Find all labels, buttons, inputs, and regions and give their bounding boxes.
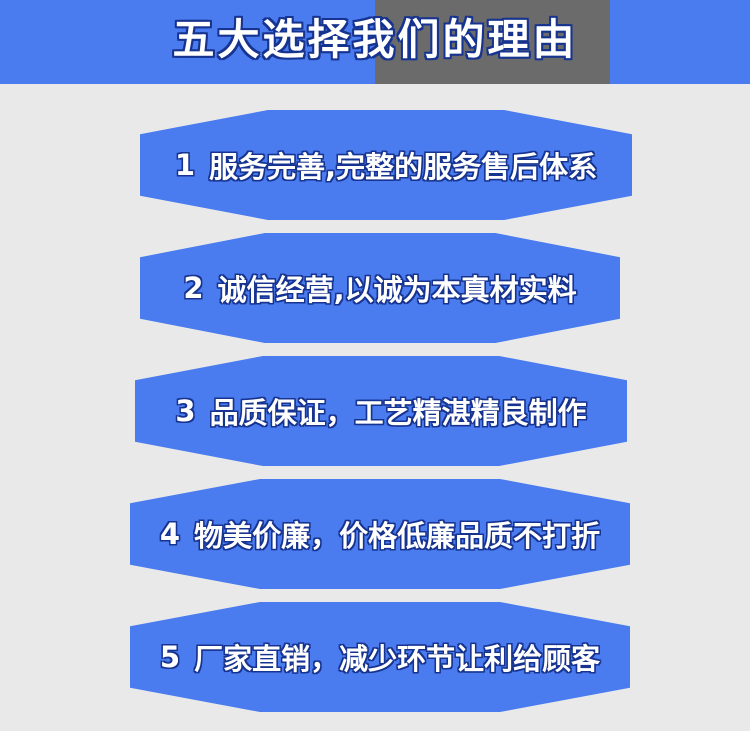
reason-number-4: 4 xyxy=(160,517,180,551)
list-item: 4 物美价廉，价格低廉品质不打折 xyxy=(0,479,750,599)
ribbon-content-3: 3 品质保证，工艺精湛精良制作 xyxy=(175,390,586,432)
list-item: 5 厂家直销，减少环节让利给顾客 xyxy=(0,602,750,722)
ribbon-content-4: 4 物美价廉，价格低廉品质不打折 xyxy=(160,513,600,555)
reason-number-3: 3 xyxy=(175,394,195,428)
list-item: 1 服务完善,完整的服务售后体系 xyxy=(0,110,750,230)
reason-ribbon-1: 1 服务完善,完整的服务售后体系 xyxy=(140,110,632,220)
reason-number-2: 2 xyxy=(183,271,203,305)
promo-poster: 五大选择我们的理由 1 服务完善,完整的服务售后体系 2 诚信经营,以诚为本真材… xyxy=(0,0,750,731)
reason-ribbon-3: 3 品质保证，工艺精湛精良制作 xyxy=(135,356,627,466)
reason-number-5: 5 xyxy=(160,640,180,674)
reason-list: 1 服务完善,完整的服务售后体系 2 诚信经营,以诚为本真材实料 3 品质保证，… xyxy=(0,84,750,722)
list-item: 3 品质保证，工艺精湛精良制作 xyxy=(0,356,750,476)
page-title: 五大选择我们的理由 xyxy=(0,0,750,84)
reason-text-3: 品质保证，工艺精湛精良制作 xyxy=(210,390,587,432)
reason-text-4: 物美价廉，价格低廉品质不打折 xyxy=(194,513,600,555)
reason-text-2: 诚信经营,以诚为本真材实料 xyxy=(218,267,577,309)
poster-header: 五大选择我们的理由 xyxy=(0,0,750,84)
ribbon-content-2: 2 诚信经营,以诚为本真材实料 xyxy=(183,267,576,309)
reason-ribbon-4: 4 物美价廉，价格低廉品质不打折 xyxy=(130,479,630,589)
reason-number-1: 1 xyxy=(175,148,195,182)
reason-ribbon-2: 2 诚信经营,以诚为本真材实料 xyxy=(140,233,620,343)
reason-text-1: 服务完善,完整的服务售后体系 xyxy=(209,144,597,186)
reason-text-5: 厂家直销，减少环节让利给顾客 xyxy=(194,636,600,678)
reason-ribbon-5: 5 厂家直销，减少环节让利给顾客 xyxy=(130,602,630,712)
list-item: 2 诚信经营,以诚为本真材实料 xyxy=(0,233,750,353)
ribbon-content-1: 1 服务完善,完整的服务售后体系 xyxy=(175,144,597,186)
ribbon-content-5: 5 厂家直销，减少环节让利给顾客 xyxy=(160,636,600,678)
